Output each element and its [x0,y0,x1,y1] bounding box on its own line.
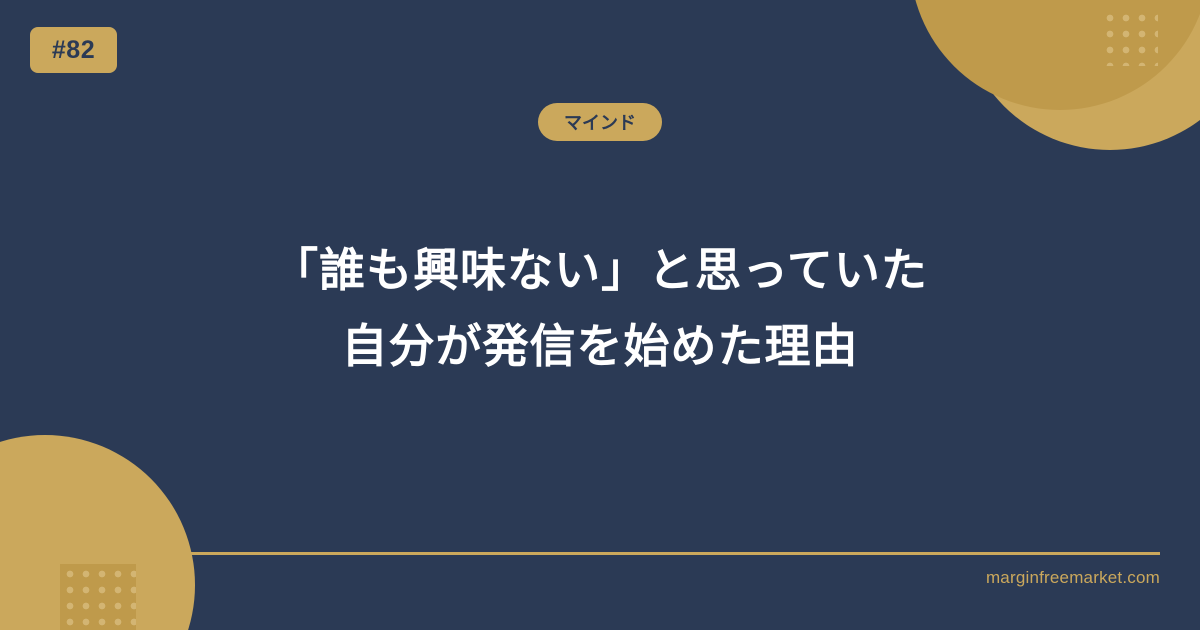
page-title-line-1: 「誰も興味ない」と思っていた [120,232,1080,308]
page-title-line-2: 自分が発信を始めた理由 [120,308,1080,384]
top-right-dot-grid-decoration [1100,8,1158,66]
bottom-left-circle-decoration [0,435,195,630]
top-right-circle-decoration [960,0,1200,150]
blog-card: #82 マインド 「誰も興味ない」と思っていた 自分が発信を始めた理由 marg… [0,0,1200,630]
top-right-circle-dark-decoration [910,0,1200,110]
page-title: 「誰も興味ない」と思っていた 自分が発信を始めた理由 [0,232,1200,384]
site-url: marginfreemarket.com [986,568,1160,588]
post-number-badge: #82 [30,27,117,73]
footer-divider [40,552,1160,555]
bottom-left-dot-grid-decoration [60,564,136,630]
category-badge: マインド [538,103,662,141]
